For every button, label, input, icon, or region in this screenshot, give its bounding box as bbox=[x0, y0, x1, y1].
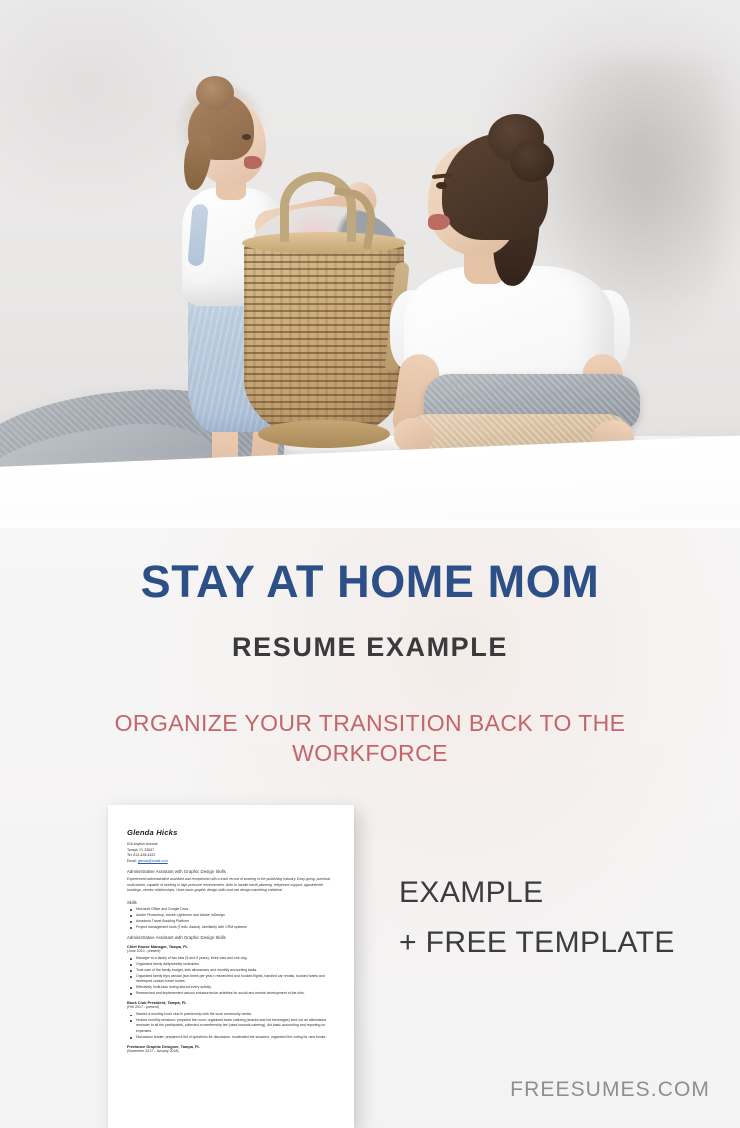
child-eye bbox=[242, 134, 251, 140]
child-mouth bbox=[244, 156, 262, 169]
resume-job-dates: (Feb 2017 - present) bbox=[127, 1005, 337, 1009]
resume-job-bullets: Started a monthly book club in partnersh… bbox=[127, 1012, 337, 1040]
child-hair-bun bbox=[196, 76, 234, 110]
list-item: Project management tools (Trello, Asana)… bbox=[127, 925, 337, 930]
resume-experience-heading: Administrative Assistant with Graphic De… bbox=[127, 935, 337, 940]
basket-handle-second bbox=[325, 186, 380, 249]
resume-email-label: Email: bbox=[127, 859, 137, 863]
resume-job-entry: Freelance Graphic Designer, Tampa, FL (N… bbox=[127, 1044, 337, 1053]
resume-contact-block: 615 Asylum Avenue Tampa, FL 33637 Tel: 8… bbox=[127, 842, 337, 864]
callout-block: EXAMPLE + FREE TEMPLATE bbox=[399, 868, 719, 968]
list-item: Researched and implemented various extra… bbox=[127, 991, 337, 996]
list-item: Took care of the family budget, kids all… bbox=[127, 968, 337, 973]
resume-email-row: Email: glenda@email.com bbox=[127, 859, 337, 865]
mother-hand-left bbox=[394, 418, 434, 452]
callout-line-example: EXAMPLE bbox=[399, 868, 719, 918]
list-item: Adobe Photoshop, Adobe Lightroom and Ado… bbox=[127, 913, 337, 918]
resume-job-entry: Chief House Manager, Tampa, FL (June 201… bbox=[127, 944, 337, 996]
page-title: STAY AT HOME MOM bbox=[0, 556, 740, 608]
mother-hair-bun-second bbox=[510, 140, 554, 182]
list-item: Organized family trips abroad (two times… bbox=[127, 974, 337, 985]
list-item: Discussion leader: prepared a list of qu… bbox=[127, 1035, 337, 1040]
resume-job-dates: (June 2010 - present) bbox=[127, 949, 337, 953]
list-item: Organized family daily/weekly schedules. bbox=[127, 962, 337, 967]
page-subtitle: RESUME EXAMPLE bbox=[0, 632, 740, 663]
resume-skills-heading: Skills bbox=[127, 900, 337, 905]
list-item: Started a monthly book club in partnersh… bbox=[127, 1012, 337, 1017]
list-item: Effectively multi-task during almost eve… bbox=[127, 985, 337, 990]
hero-photo bbox=[0, 0, 740, 528]
resume-job-entry: Book Club President, Tampa, FL (Feb 2017… bbox=[127, 1000, 337, 1040]
basket-body bbox=[244, 240, 404, 438]
page-tagline: ORGANIZE YOUR TRANSITION BACK TO THE WOR… bbox=[60, 708, 680, 769]
resume-job-bullets: Manager to a family of two kids (5 and 9… bbox=[127, 956, 337, 996]
list-item: Manager to a family of two kids (5 and 9… bbox=[127, 956, 337, 961]
list-item: Hosted monthly sessions: prepared the ro… bbox=[127, 1018, 337, 1034]
resume-job-dates: (November 2017 - January 2018) bbox=[127, 1049, 337, 1053]
resume-headline: Administrative Assistant with Graphic De… bbox=[127, 869, 337, 874]
list-item: Amadeus Travel Booking Platform bbox=[127, 919, 337, 924]
resume-preview-sheet[interactable]: Glenda Hicks 615 Asylum Avenue Tampa, FL… bbox=[108, 805, 354, 1128]
callout-line-free-template: + FREE TEMPLATE bbox=[399, 918, 719, 968]
resume-skills-list: Microsoft Office and Google Docs Adobe P… bbox=[127, 907, 337, 930]
resume-summary: Experienced administrative assistant and… bbox=[127, 877, 337, 894]
photo-bottom-fill bbox=[0, 520, 740, 528]
laundry-basket bbox=[244, 188, 404, 478]
resume-email-link[interactable]: glenda@email.com bbox=[138, 859, 168, 863]
mother-eye bbox=[436, 182, 447, 189]
pinterest-pin: STAY AT HOME MOM RESUME EXAMPLE ORGANIZE… bbox=[0, 0, 740, 1128]
resume-candidate-name: Glenda Hicks bbox=[127, 828, 337, 837]
basket-base bbox=[258, 420, 390, 448]
list-item: Microsoft Office and Google Docs bbox=[127, 907, 337, 912]
brand-watermark: FREESUMES.COM bbox=[0, 1078, 710, 1102]
